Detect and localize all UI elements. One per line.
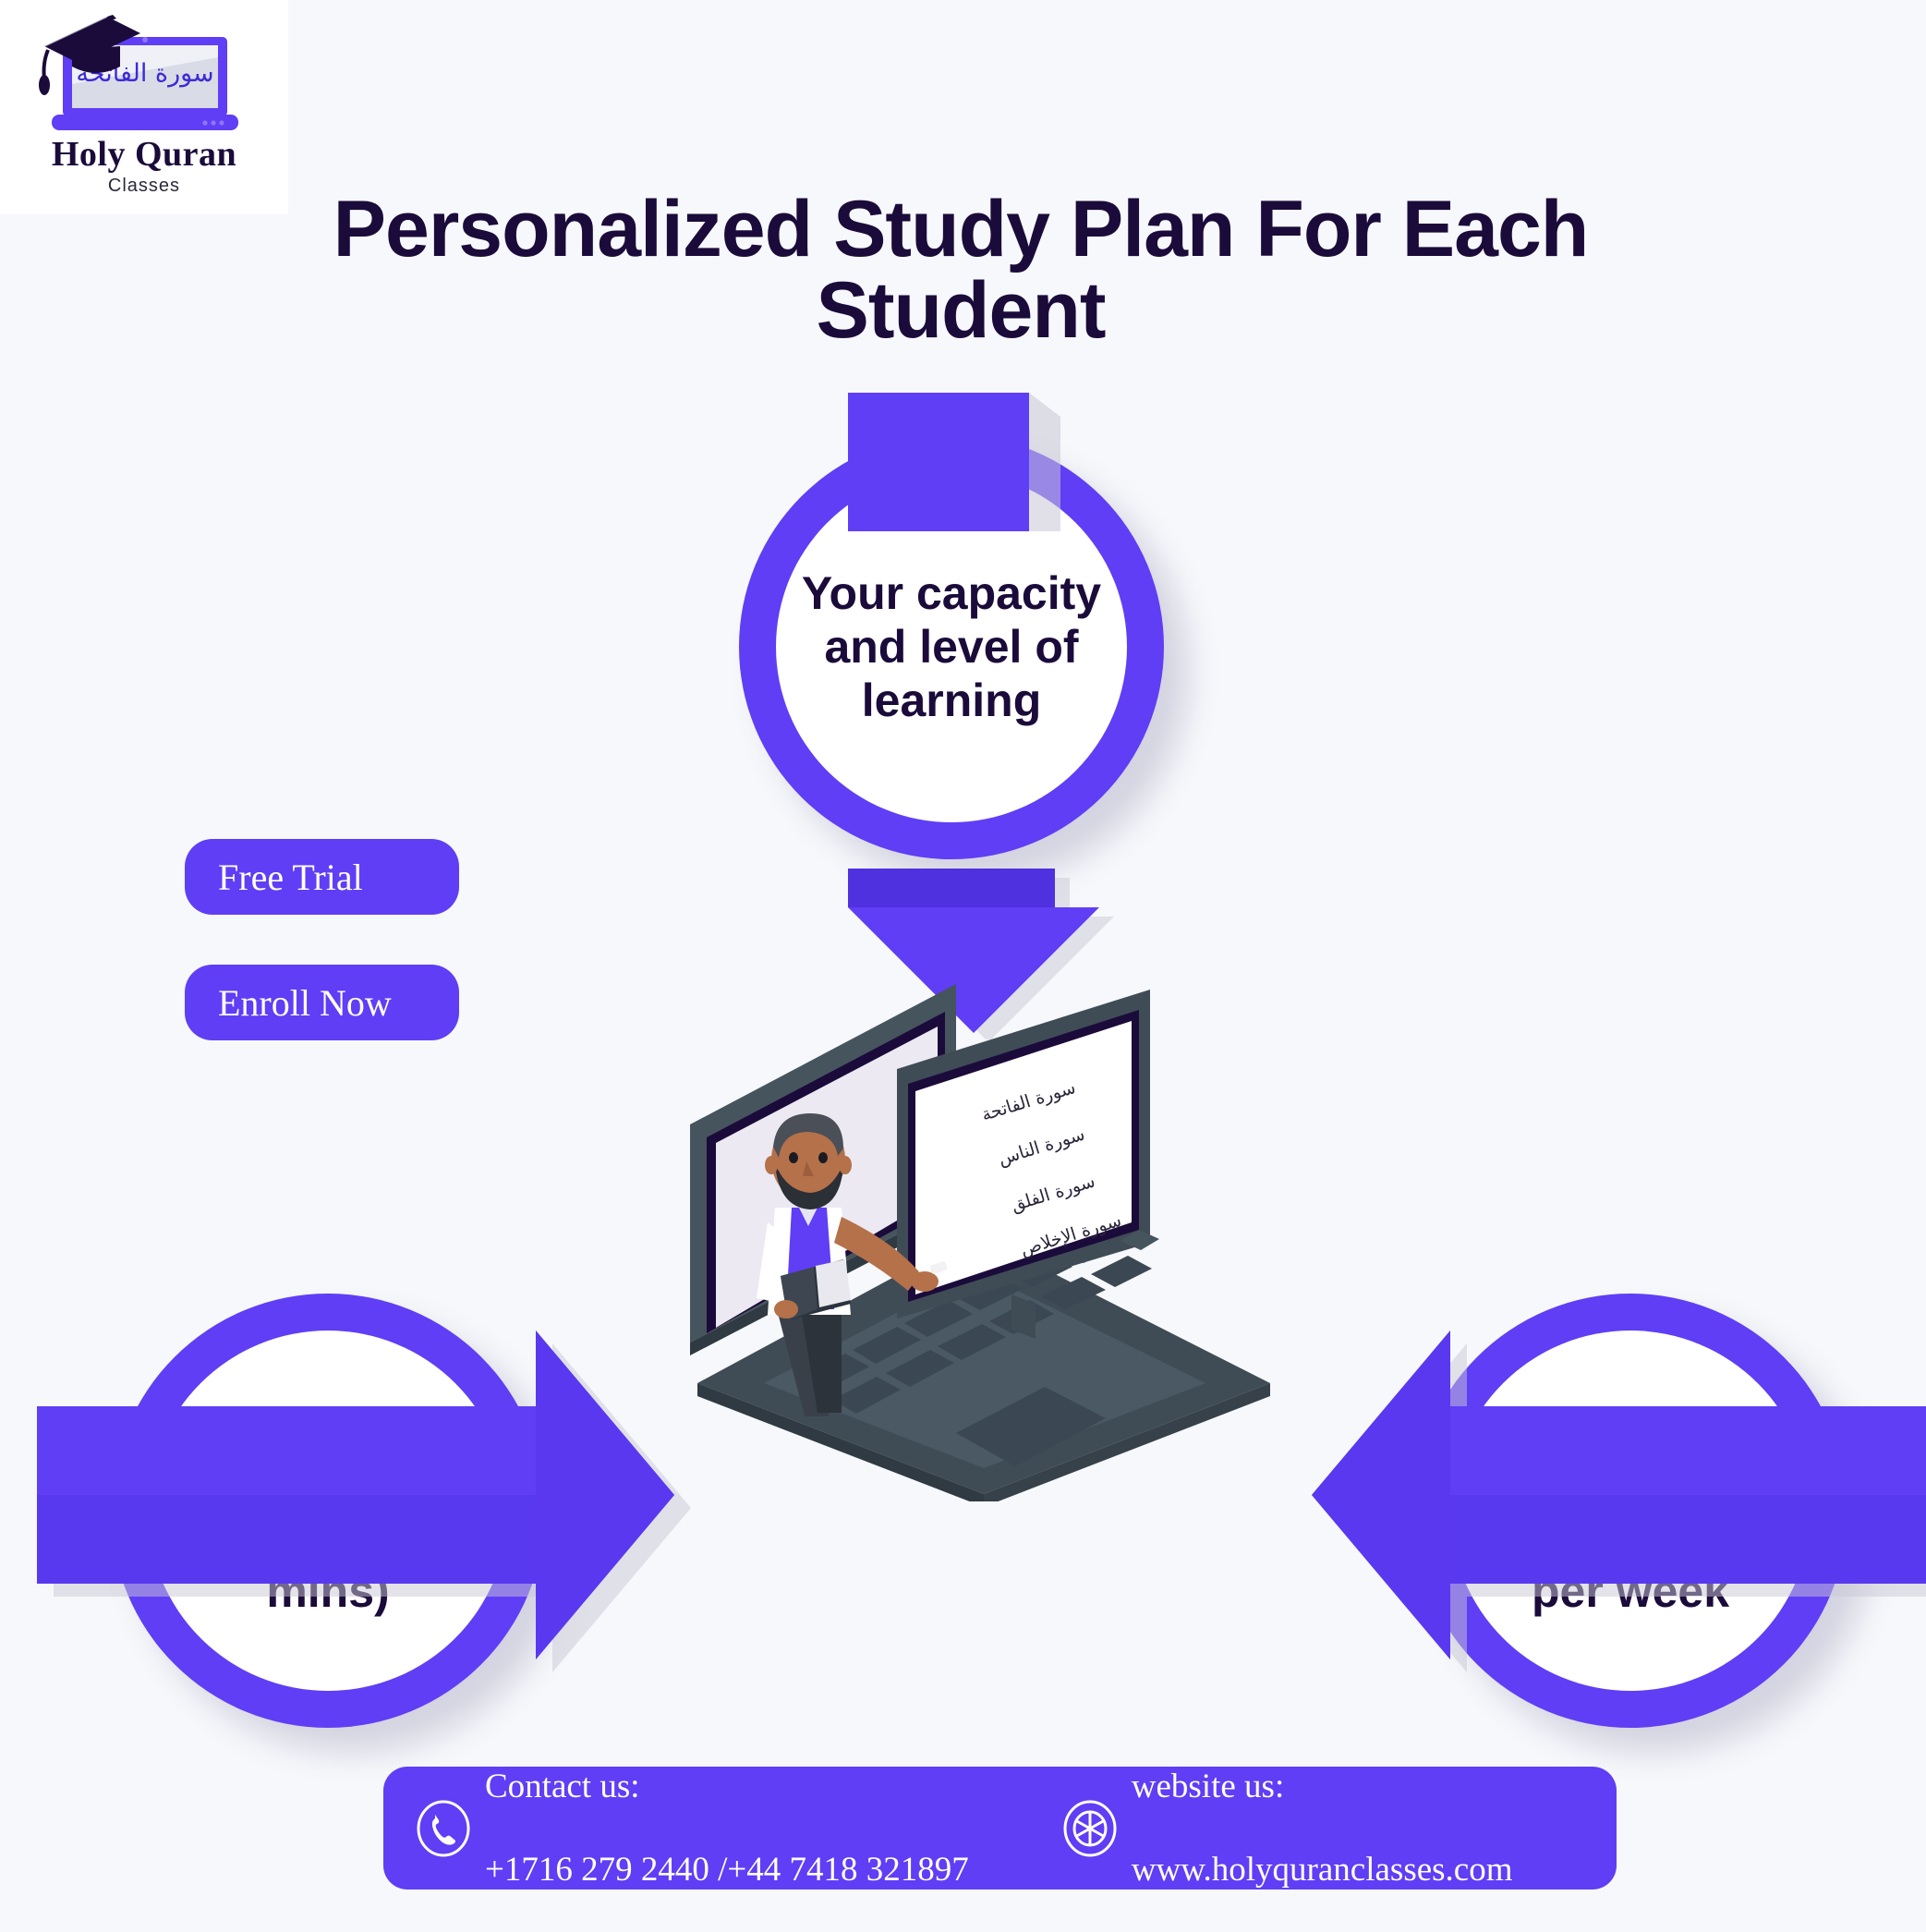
enroll-now-button[interactable]: Enroll Now bbox=[185, 965, 459, 1040]
free-trial-button[interactable]: Free Trial bbox=[185, 839, 459, 915]
online-class-laptop-illustration: سورة الفاتحة سورة الناس سورة الفلق سورة … bbox=[679, 966, 1279, 1501]
arrow-stem-top bbox=[848, 393, 1060, 531]
infographic-canvas: سورة الفاتحة Holy Quran Classes Personal… bbox=[0, 0, 1926, 1926]
graduation-cap-laptop-icon: سورة الفاتحة bbox=[24, 6, 264, 144]
enroll-now-label: Enroll Now bbox=[218, 981, 392, 1025]
arrow-right-icon-left-node bbox=[18, 1312, 693, 1728]
contact-label: Contact us: bbox=[485, 1766, 969, 1807]
contact-block[interactable]: Contact us: +1716 279 2440 /+44 7418 321… bbox=[415, 1724, 969, 1932]
brand-subtitle: Classes bbox=[108, 176, 180, 197]
contact-footer-bar: Contact us: +1716 279 2440 /+44 7418 321… bbox=[383, 1767, 1617, 1889]
free-trial-label: Free Trial bbox=[218, 856, 363, 899]
website-block[interactable]: website us: www.holyquranclasses.com bbox=[1061, 1724, 1513, 1932]
contact-value: +1716 279 2440 /+44 7418 321897 bbox=[485, 1849, 969, 1890]
phone-icon bbox=[415, 1800, 472, 1857]
brand-logo: سورة الفاتحة Holy Quran Classes bbox=[0, 0, 288, 214]
arrow-left-icon-right-node bbox=[1293, 1312, 1926, 1728]
website-value: www.holyquranclasses.com bbox=[1132, 1849, 1513, 1890]
website-label: website us: bbox=[1132, 1766, 1513, 1807]
contact-text: Contact us: +1716 279 2440 /+44 7418 321… bbox=[485, 1724, 969, 1932]
globe-icon bbox=[1061, 1800, 1119, 1857]
website-text: website us: www.holyquranclasses.com bbox=[1132, 1724, 1513, 1932]
page-title: Personalized Study Plan For Each Student bbox=[277, 189, 1644, 351]
logo-artwork: سورة الفاتحة bbox=[24, 6, 264, 144]
